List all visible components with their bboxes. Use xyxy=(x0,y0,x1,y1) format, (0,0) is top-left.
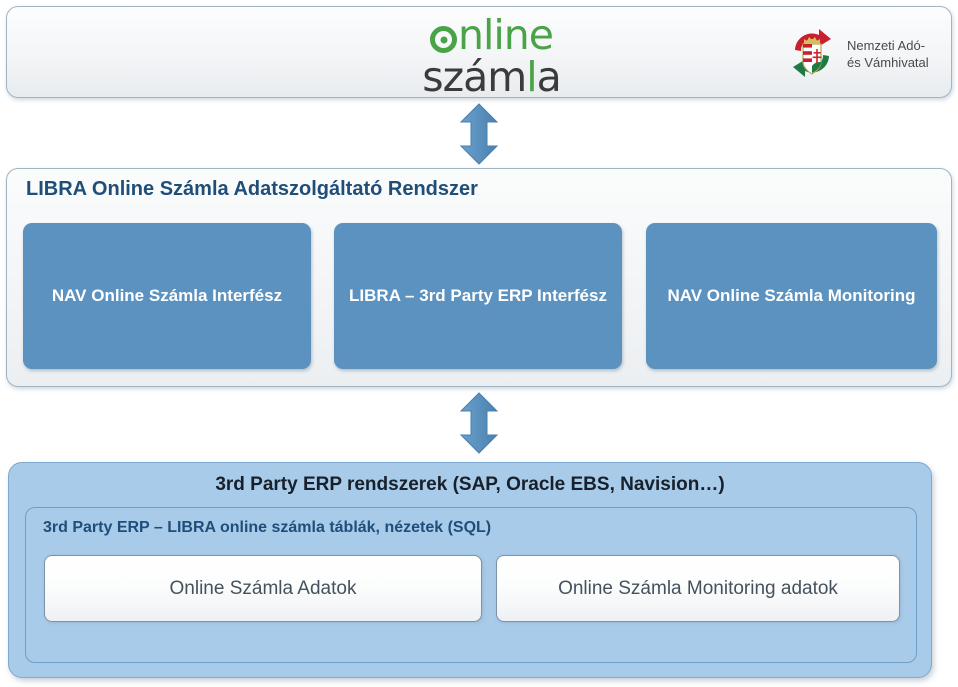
double-arrow-up-down-icon xyxy=(458,103,500,165)
module-libra-3rd-party-erp-interfesz[interactable]: LIBRA – 3rd Party ERP Interfész xyxy=(334,223,622,369)
module-label: NAV Online Számla Interfész xyxy=(52,283,282,309)
data-box-label: Online Számla Monitoring adatok xyxy=(558,578,838,600)
nav-logo-text: Nemzeti Adó- és Vámhivatal xyxy=(847,38,929,71)
logo-online-text: nline xyxy=(458,11,553,59)
bullseye-icon xyxy=(430,26,457,53)
data-box-online-szamla-adatok[interactable]: Online Számla Adatok xyxy=(44,555,482,622)
module-nav-online-szamla-interfesz[interactable]: NAV Online Számla Interfész xyxy=(23,223,311,369)
module-label: LIBRA – 3rd Party ERP Interfész xyxy=(349,283,607,309)
logo-line-online: nline xyxy=(399,15,584,57)
data-box-online-szamla-monitoring-adatok[interactable]: Online Számla Monitoring adatok xyxy=(496,555,900,622)
erp-panel-title: 3rd Party ERP rendszerek (SAP, Oracle EB… xyxy=(9,474,931,496)
module-label: NAV Online Számla Monitoring xyxy=(667,283,915,309)
logo-accent-l: l xyxy=(526,53,536,101)
online-szamla-logo: nline számla xyxy=(399,15,584,95)
hungary-coat-of-arms-icon xyxy=(785,24,839,87)
libra-panel-title: LIBRA Online Számla Adatszolgáltató Rend… xyxy=(26,178,478,201)
libra-system-panel: LIBRA Online Számla Adatszolgáltató Rend… xyxy=(6,168,952,387)
double-arrow-up-down-icon xyxy=(458,392,500,454)
logo-szam-text: szám xyxy=(422,53,526,101)
data-box-label: Online Számla Adatok xyxy=(170,578,357,600)
nav-logo-line1: Nemzeti Adó- xyxy=(847,38,925,53)
module-nav-online-szamla-monitoring[interactable]: NAV Online Számla Monitoring xyxy=(646,223,937,369)
nav-logo: Nemzeti Adó- és Vámhivatal xyxy=(785,24,955,86)
logo-line-szamla: számla xyxy=(399,57,584,98)
logo-a-text: a xyxy=(537,53,561,101)
logo-header-panel: nline számla xyxy=(6,6,952,98)
third-party-erp-panel: 3rd Party ERP rendszerek (SAP, Oracle EB… xyxy=(8,462,932,678)
erp-sql-layer-title: 3rd Party ERP – LIBRA online számla tábl… xyxy=(43,519,491,537)
erp-sql-layer: 3rd Party ERP – LIBRA online számla tábl… xyxy=(25,507,917,663)
nav-logo-line2: és Vámhivatal xyxy=(847,55,929,70)
